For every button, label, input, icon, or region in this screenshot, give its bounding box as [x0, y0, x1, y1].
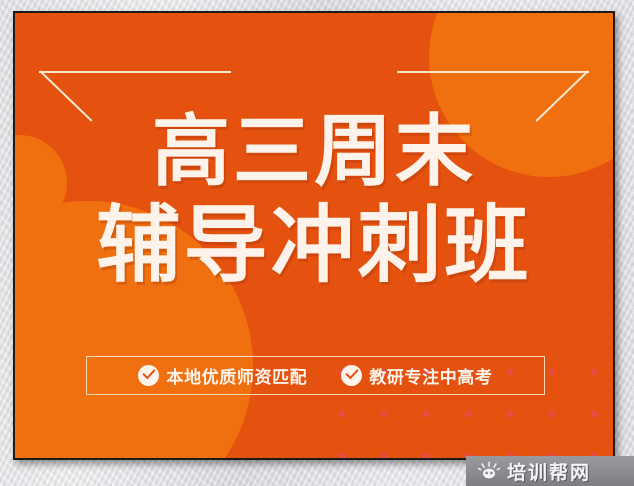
- headline-line-2: 辅导冲刺班: [15, 203, 613, 289]
- tagline-box: 本地优质师资匹配 教研专注中高考: [86, 356, 545, 395]
- check-circle-icon: [138, 365, 159, 386]
- tagline-label: 本地优质师资匹配: [166, 363, 307, 388]
- sunburst-icon: [478, 461, 500, 481]
- tagline-item-2: 教研专注中高考: [341, 363, 492, 388]
- site-watermark: 培训帮网: [466, 456, 634, 486]
- poster-headline: 高三周末 辅导冲刺班: [15, 113, 613, 288]
- tagline-item-1: 本地优质师资匹配: [138, 363, 307, 388]
- check-circle-icon: [341, 365, 362, 386]
- bracket-horizontal-rule: [39, 71, 231, 73]
- headline-line-1: 高三周末: [15, 113, 613, 193]
- watermark-text: 培训帮网: [507, 458, 591, 485]
- course-promo-poster: 高三周末 辅导冲刺班 本地优质师资匹配 教研专注中高考: [13, 11, 615, 460]
- tagline-label: 教研专注中高考: [369, 363, 492, 388]
- bracket-horizontal-rule: [397, 71, 589, 73]
